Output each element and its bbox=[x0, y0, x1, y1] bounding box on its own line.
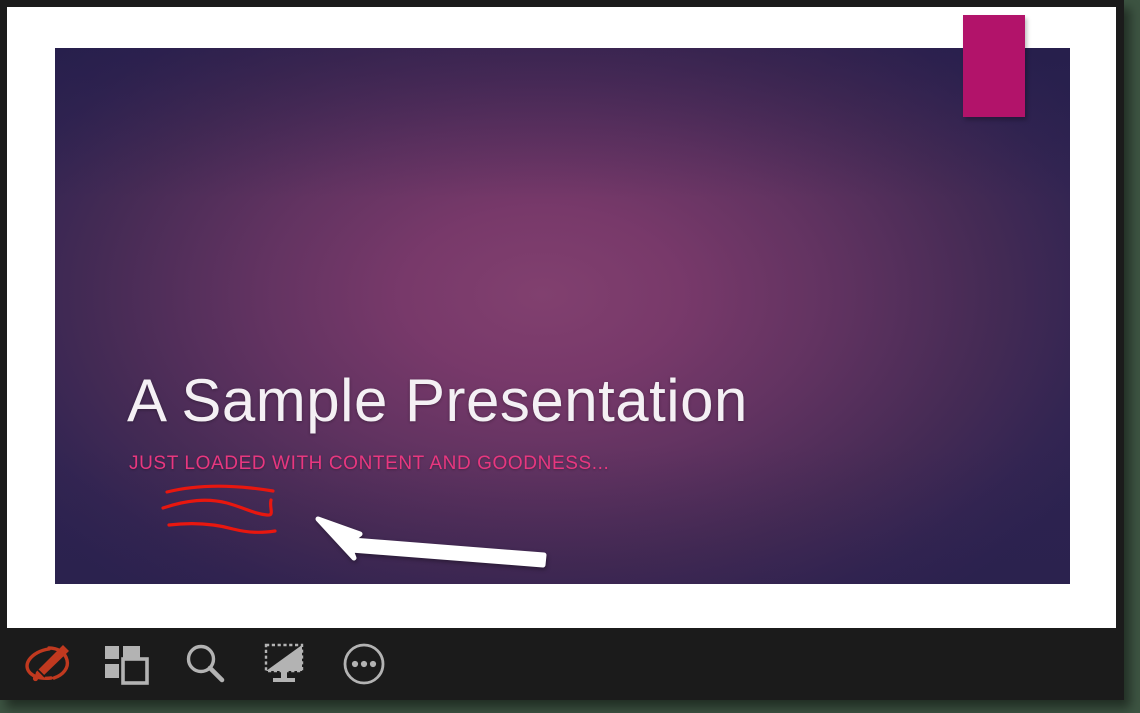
slide-subtitle: JUST LOADED WITH CONTENT AND GOODNESS... bbox=[129, 453, 609, 475]
more-options-icon bbox=[338, 639, 390, 689]
search-icon bbox=[181, 640, 231, 688]
pen-icon bbox=[21, 639, 75, 689]
accent-bar-decoration bbox=[963, 15, 1025, 117]
see-all-slides-button[interactable] bbox=[87, 628, 166, 700]
white-arrow-pointer bbox=[318, 519, 544, 565]
blank-screen-icon bbox=[259, 640, 311, 688]
slide-surface[interactable]: A Sample Presentation JUST LOADED WITH C… bbox=[55, 48, 1070, 584]
zoom-slide-button[interactable] bbox=[166, 628, 245, 700]
more-options-button[interactable] bbox=[324, 628, 403, 700]
slide-background-vignette bbox=[55, 48, 1070, 584]
annotation-layer bbox=[55, 48, 1070, 584]
pen-tool-button[interactable] bbox=[8, 628, 87, 700]
red-pen-squiggle-annotation bbox=[163, 486, 275, 532]
slide-title: A Sample Presentation bbox=[127, 366, 748, 435]
black-screen-button[interactable] bbox=[245, 628, 324, 700]
slide-grid-icon bbox=[102, 640, 152, 688]
presentation-window: A Sample Presentation JUST LOADED WITH C… bbox=[0, 0, 1124, 700]
slide-canvas-area: A Sample Presentation JUST LOADED WITH C… bbox=[7, 7, 1116, 628]
presenter-toolbar bbox=[0, 628, 1124, 700]
